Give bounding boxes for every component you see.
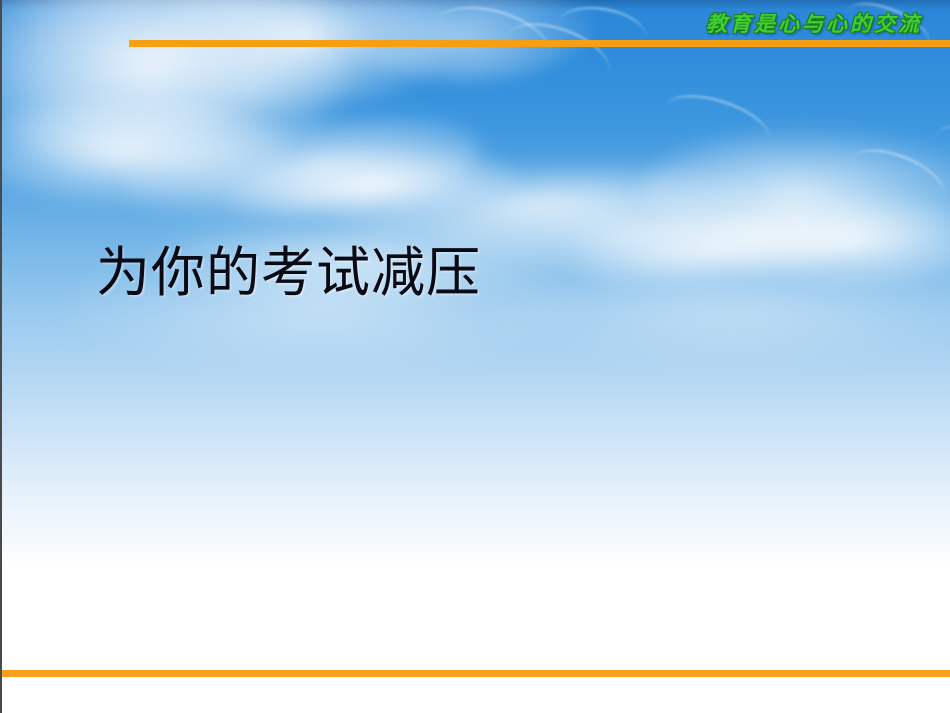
- slide-header-banner-text: 教育是心与心的交流: [706, 8, 922, 38]
- slide-title: 为你的考试减压: [96, 228, 481, 307]
- presentation-slide: 教育是心与心的交流 为你的考试减压: [0, 0, 950, 713]
- top-orange-rule: [129, 40, 950, 47]
- bottom-orange-rule: [2, 670, 950, 677]
- slide-footer-area: [2, 677, 950, 713]
- slide-content-body: [2, 300, 950, 670]
